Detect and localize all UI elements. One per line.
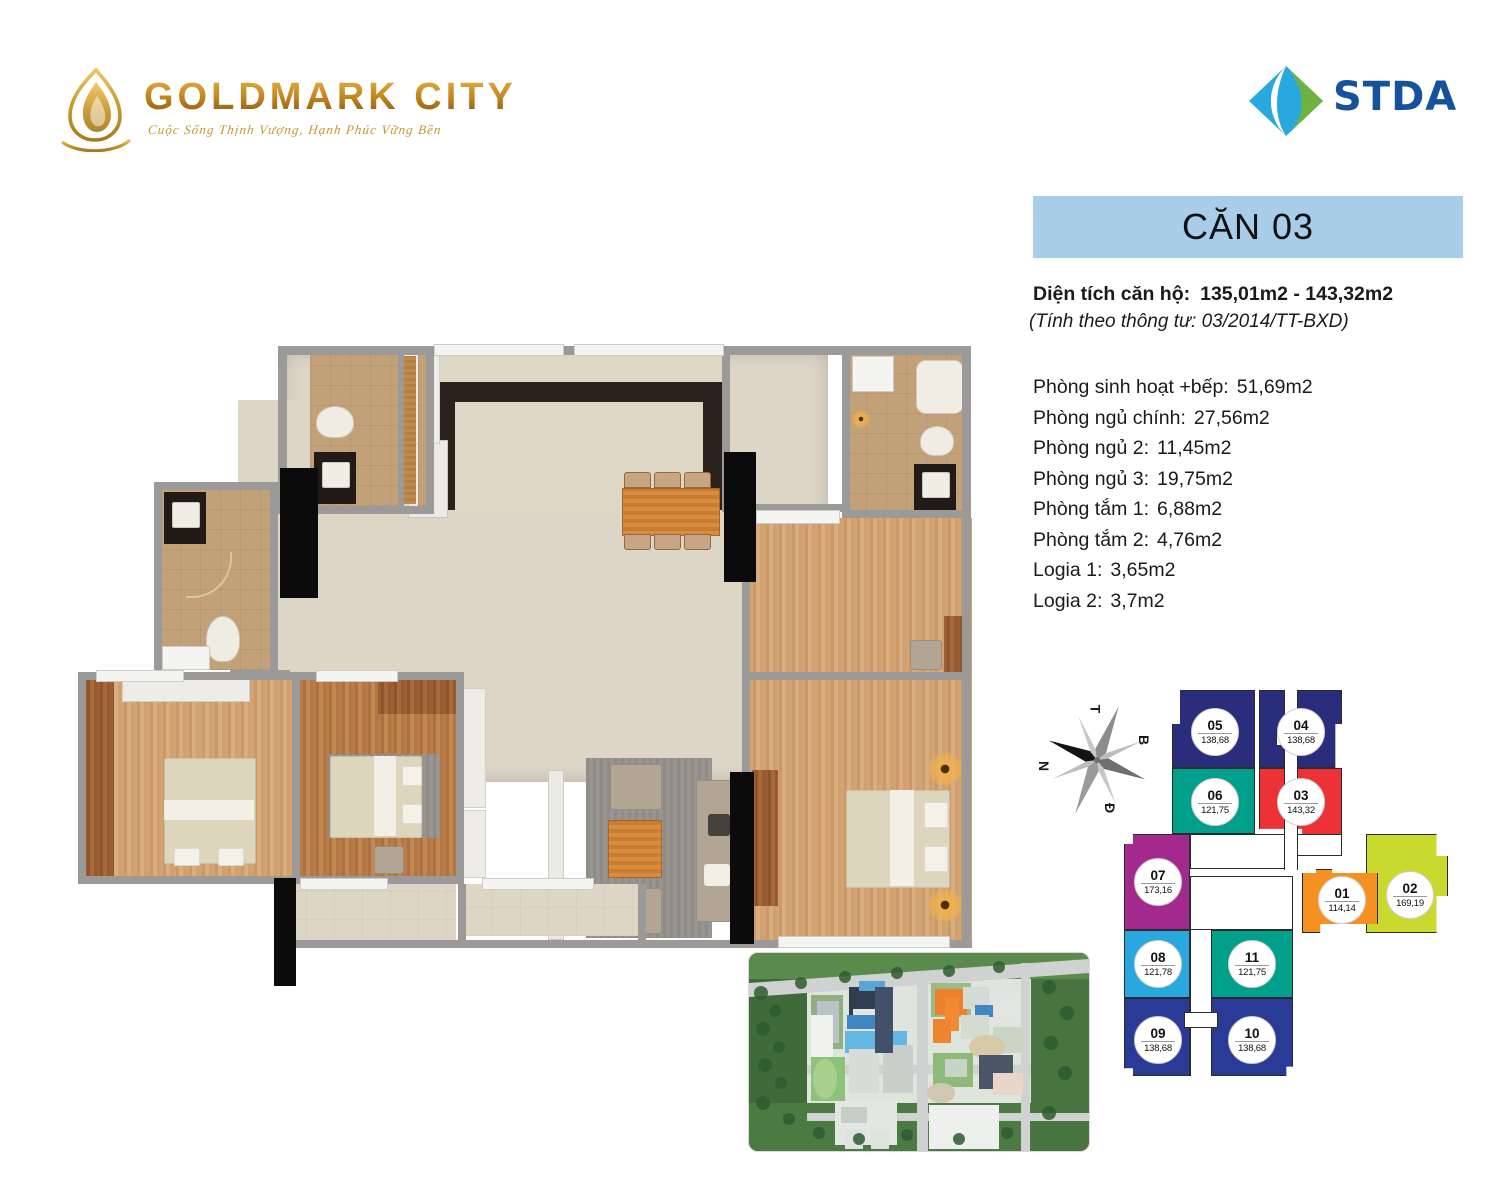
stda-wordmark: STDA [1333, 74, 1457, 120]
dining-chair [624, 534, 651, 550]
bedroom-3-pillow [174, 848, 200, 866]
loggia-door-2 [482, 878, 594, 890]
bedroom-2-accent-wall [378, 680, 456, 714]
master-wardrobe [752, 770, 778, 906]
list-item: Phòng ngủ 2:11,45m2 [1033, 433, 1463, 464]
apartment-area-value: 135,01m2 - 143,32m2 [1200, 283, 1393, 305]
stda-logo: STDA [1247, 60, 1447, 142]
dining-chair [654, 472, 681, 488]
toilet-bath-1 [316, 406, 354, 438]
keyplan-badge-03: 03143,32 [1277, 778, 1325, 826]
living-room-coffee-table [608, 820, 662, 878]
keyplan-badge-05: 05138,68 [1191, 708, 1239, 756]
loggia-door-1 [300, 878, 388, 890]
apartment-area-label: Diện tích căn hộ: [1033, 283, 1190, 305]
site-masterplan-photo [748, 952, 1090, 1152]
structural-column [280, 468, 318, 598]
keyplan-vertical-core-lower [1190, 930, 1212, 1076]
toilet-bath-2 [206, 616, 240, 662]
structural-column [730, 772, 754, 944]
master-bath-window [852, 356, 894, 392]
sink-master-bath [922, 472, 950, 498]
compass-east-label: Đ [1102, 803, 1118, 813]
master-loggia-door [778, 936, 950, 948]
compass-south-label: N [1036, 761, 1052, 771]
wall-bedroom3-right [292, 672, 300, 884]
keyplan-badge-01: 01114,14 [1318, 876, 1366, 924]
master-nightstand-lamp [928, 888, 962, 922]
keyplan-badge-02: 02169,19 [1386, 871, 1434, 919]
bathroom-2-window [162, 646, 210, 670]
keyplan-badge-09: 09138,68 [1134, 1016, 1182, 1064]
list-item: Logia 1:3,65m2 [1033, 555, 1463, 586]
sofa-cushion-dark [708, 814, 730, 836]
unit-title-banner: CĂN 03 [1033, 196, 1463, 258]
living-room-armchair [610, 764, 662, 810]
bedroom-2-bed-runner [374, 756, 396, 836]
flame-logo-icon [56, 66, 134, 152]
keyplan-badge-11: 11121,75 [1228, 940, 1276, 988]
list-item: Phòng sinh hoạt +bếp:51,69m2 [1033, 372, 1463, 403]
wall-loggia-divider [458, 884, 466, 946]
compass-west-label: T [1087, 705, 1103, 714]
loggia-2-floor [464, 884, 644, 936]
ceiling-light-master-bath [852, 410, 870, 428]
bedroom-3-pillow [218, 848, 244, 866]
living-window-top [574, 344, 724, 356]
wall-bath1-right [398, 350, 404, 510]
wall-master-top [742, 672, 970, 680]
dining-chair [684, 472, 711, 488]
loggia-1-floor [278, 884, 456, 948]
keyplan-badge-04: 04138,68 [1277, 708, 1325, 756]
kitchen-counter [435, 382, 723, 402]
list-item: Phòng ngủ chính:27,56m2 [1033, 403, 1463, 434]
decree-note: (Tính theo thông tư: 03/2014/TT-BXD) [1029, 311, 1349, 333]
master-bedroom-upper-floor [750, 518, 972, 576]
wall-kitchen-left [426, 346, 434, 512]
dining-table [622, 488, 720, 536]
wall-bedroom3-bottom [78, 876, 300, 884]
wall-bedroom2-right [456, 672, 464, 884]
building-key-plan[interactable]: 05138,68 04138,68 06121,75 03143,32 0717… [1124, 686, 1454, 1078]
goldmark-city-logo: GOLDMARK CITY Cuộc Sống Thịnh Vượng, Hạn… [48, 62, 468, 162]
wall-bedroom3-left [78, 672, 86, 884]
wall-bath2-right [270, 482, 278, 678]
apartment-area-line: Diện tích căn hộ:135,01m2 - 143,32m2 [1033, 283, 1393, 306]
page-title: CĂN 03 [1182, 206, 1314, 248]
list-item: Phòng tắm 1:6,88m2 [1033, 494, 1463, 525]
bedroom-2-wardrobe [462, 688, 486, 808]
dining-chair [624, 472, 651, 488]
wall-right-outer [962, 346, 971, 940]
bedroom-2-pillow [402, 804, 422, 824]
bedroom-2-chair [374, 846, 404, 874]
brand-tagline: Cuộc Sống Thịnh Vượng, Hạnh Phúc Vững Bề… [147, 122, 442, 138]
sink-bath-2 [172, 502, 200, 528]
toilet-master-bath [920, 426, 954, 456]
keyplan-badge-10: 10138,68 [1228, 1016, 1276, 1064]
wall-bath2-top [154, 482, 278, 490]
bathtub [916, 360, 964, 414]
bedroom-3-wardrobe [84, 680, 114, 876]
list-item: Logia 2:3,7m2 [1033, 586, 1463, 617]
sink-bath-1 [322, 462, 350, 488]
list-item: Phòng tắm 2:4,76m2 [1033, 525, 1463, 556]
wall-loggia-right [638, 884, 646, 946]
master-bed-runner [890, 790, 914, 886]
structural-column [724, 452, 756, 582]
dining-chair [654, 534, 681, 550]
wall-masterbath-bottom [842, 510, 970, 518]
apartment-floor-plan [78, 340, 988, 1000]
master-window-left [756, 510, 840, 524]
dining-chair [684, 534, 711, 550]
brand-wordmark: GOLDMARK CITY [144, 76, 517, 119]
master-nightstand-lamp [928, 752, 962, 786]
keyplan-corridor-upper-left [1190, 834, 1293, 869]
sofa-cushion-white [704, 864, 730, 886]
list-item: Phòng ngủ 3:19,75m2 [1033, 464, 1463, 495]
master-bedroom-chair [910, 640, 942, 670]
keyplan-corridor-upper-right [1293, 834, 1342, 856]
stda-diamond-icon [1247, 64, 1325, 138]
bedroom-3-bed-runner [164, 800, 254, 820]
master-pillow [924, 846, 948, 872]
wall-bath2-left [154, 482, 162, 678]
bedroom3-window [96, 670, 184, 682]
keyplan-badge-06: 06121,75 [1191, 778, 1239, 826]
wall-masterbath-left [842, 346, 850, 516]
keyplan-badge-08: 08121,78 [1134, 940, 1182, 988]
structural-column [274, 878, 296, 986]
keyplan-corridor-lower [1190, 876, 1293, 930]
keyplan-badge-07: 07173,16 [1134, 858, 1182, 906]
wall-hall-left [230, 670, 290, 678]
keyplan-stair-core [1184, 1012, 1218, 1028]
master-pillow [924, 802, 948, 828]
kitchen-window [434, 344, 564, 356]
room-area-list: Phòng sinh hoạt +bếp:51,69m2 Phòng ngủ c… [1033, 372, 1463, 616]
bedroom2-window [316, 670, 398, 682]
bedroom-2-pillow [402, 766, 422, 786]
site-aerial-render [749, 953, 1089, 1151]
bedroom-2-wardrobe-lower [462, 810, 486, 878]
